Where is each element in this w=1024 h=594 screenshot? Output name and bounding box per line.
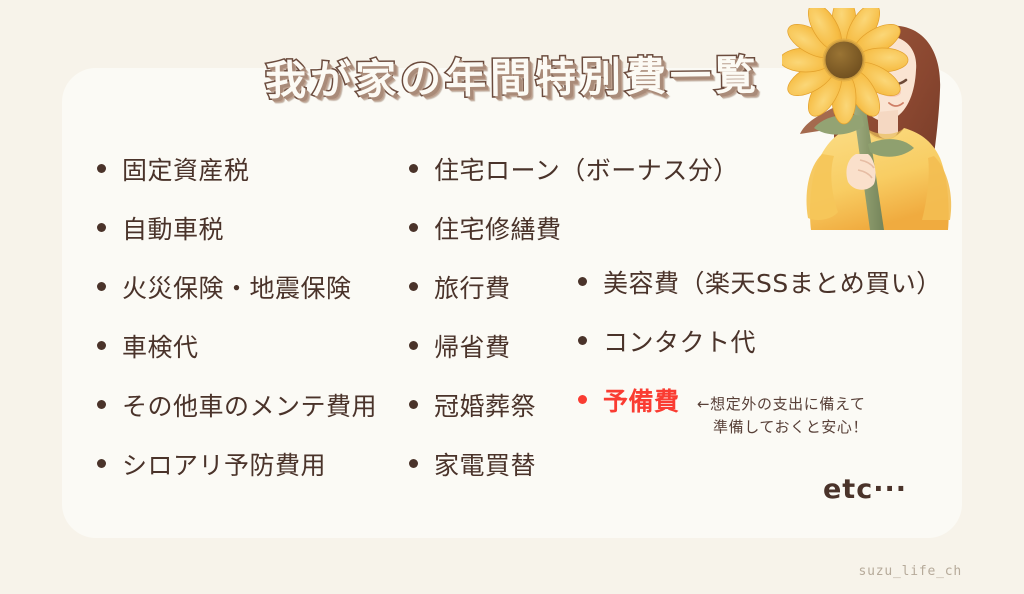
list-item-label: 住宅修繕費: [434, 217, 562, 242]
list-item-label: 車検代: [122, 335, 199, 360]
list-item[interactable]: 火災保険・地震保険: [97, 276, 377, 335]
list-item-label: 家電買替: [434, 453, 536, 478]
list-item[interactable]: シロアリ予防費用: [97, 453, 377, 512]
bullet-icon: [578, 336, 587, 345]
annotation-line-2: 準備しておくと安心！: [697, 416, 868, 439]
list-item-label: 火災保険・地震保険: [122, 276, 352, 301]
list-item-label: 自動車税: [122, 217, 224, 242]
list-item[interactable]: その他車のメンテ費用: [97, 394, 377, 453]
list-item[interactable]: 自動車税: [97, 217, 377, 276]
bullet-icon: [578, 395, 587, 404]
bullet-icon: [409, 223, 418, 232]
list-item-label: 美容費（楽天SSまとめ買い）: [603, 271, 942, 296]
list-item[interactable]: 家電買替: [409, 453, 739, 512]
bullet-icon: [97, 341, 106, 350]
annotation-line-1: ←想定外の支出に備えて: [697, 393, 868, 416]
slide-canvas: 我が家の年間特別費一覧: [0, 0, 1024, 594]
list-item[interactable]: 車検代: [97, 335, 377, 394]
list-item[interactable]: コンタクト代: [578, 330, 942, 389]
list-item-label: シロアリ予防費用: [122, 453, 326, 478]
list-item-label: 旅行費: [434, 276, 511, 301]
bullet-icon: [97, 459, 106, 468]
list-item[interactable]: 住宅ローン（ボーナス分）: [409, 158, 739, 217]
list-item-label: 帰省費: [434, 335, 511, 360]
list-item[interactable]: 固定資産税: [97, 158, 377, 217]
bullet-icon: [409, 341, 418, 350]
bullet-icon: [409, 282, 418, 291]
list-item-label: 冠婚葬祭: [434, 394, 536, 419]
list-item[interactable]: 美容費（楽天SSまとめ買い）: [578, 271, 942, 330]
bullet-icon: [97, 164, 106, 173]
bullet-icon: [97, 400, 106, 409]
bullet-icon: [409, 164, 418, 173]
list-item-label: コンタクト代: [603, 330, 756, 355]
list-item-label: 住宅ローン（ボーナス分）: [434, 158, 739, 183]
list-item-label: 予備費: [603, 389, 680, 414]
watermark-handle: suzu_life_ch: [858, 564, 962, 579]
annotation-callout: ←想定外の支出に備えて 準備しておくと安心！: [697, 393, 868, 440]
etc-label: etc···: [823, 474, 907, 505]
bullet-icon: [578, 277, 587, 286]
list-item[interactable]: 住宅修繕費: [409, 217, 739, 276]
list-item-label: 固定資産税: [122, 158, 250, 183]
bullet-icon: [409, 459, 418, 468]
bullet-icon: [409, 400, 418, 409]
bullet-icon: [97, 223, 106, 232]
bullet-icon: [97, 282, 106, 291]
expense-column-1: 固定資産税 自動車税 火災保険・地震保険 車検代 その他車のメンテ費用 シロアリ…: [97, 158, 377, 512]
list-item-label: その他車のメンテ費用: [122, 394, 377, 419]
